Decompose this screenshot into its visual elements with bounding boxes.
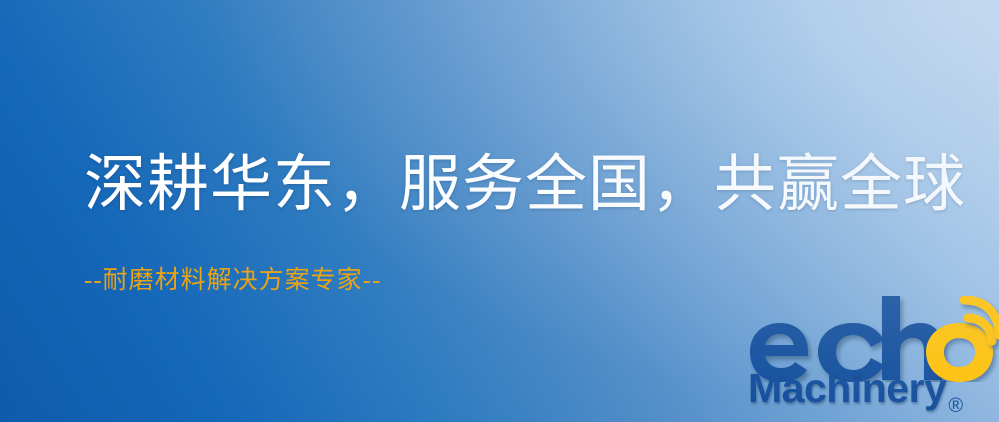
promo-banner: 深耕华东，服务全国，共赢全球 --耐磨材料解决方案专家-- [0, 0, 999, 422]
banner-subtitle: --耐磨材料解决方案专家-- [84, 266, 381, 296]
echo-machinery-logo[interactable]: Machinery ® [742, 296, 999, 422]
logo-subtext-row: Machinery ® [748, 368, 999, 420]
logo-machinery-text: Machinery [748, 368, 946, 409]
banner-headline: 深耕华东，服务全国，共赢全球 [84, 152, 966, 219]
registered-trademark-icon: ® [946, 396, 963, 420]
